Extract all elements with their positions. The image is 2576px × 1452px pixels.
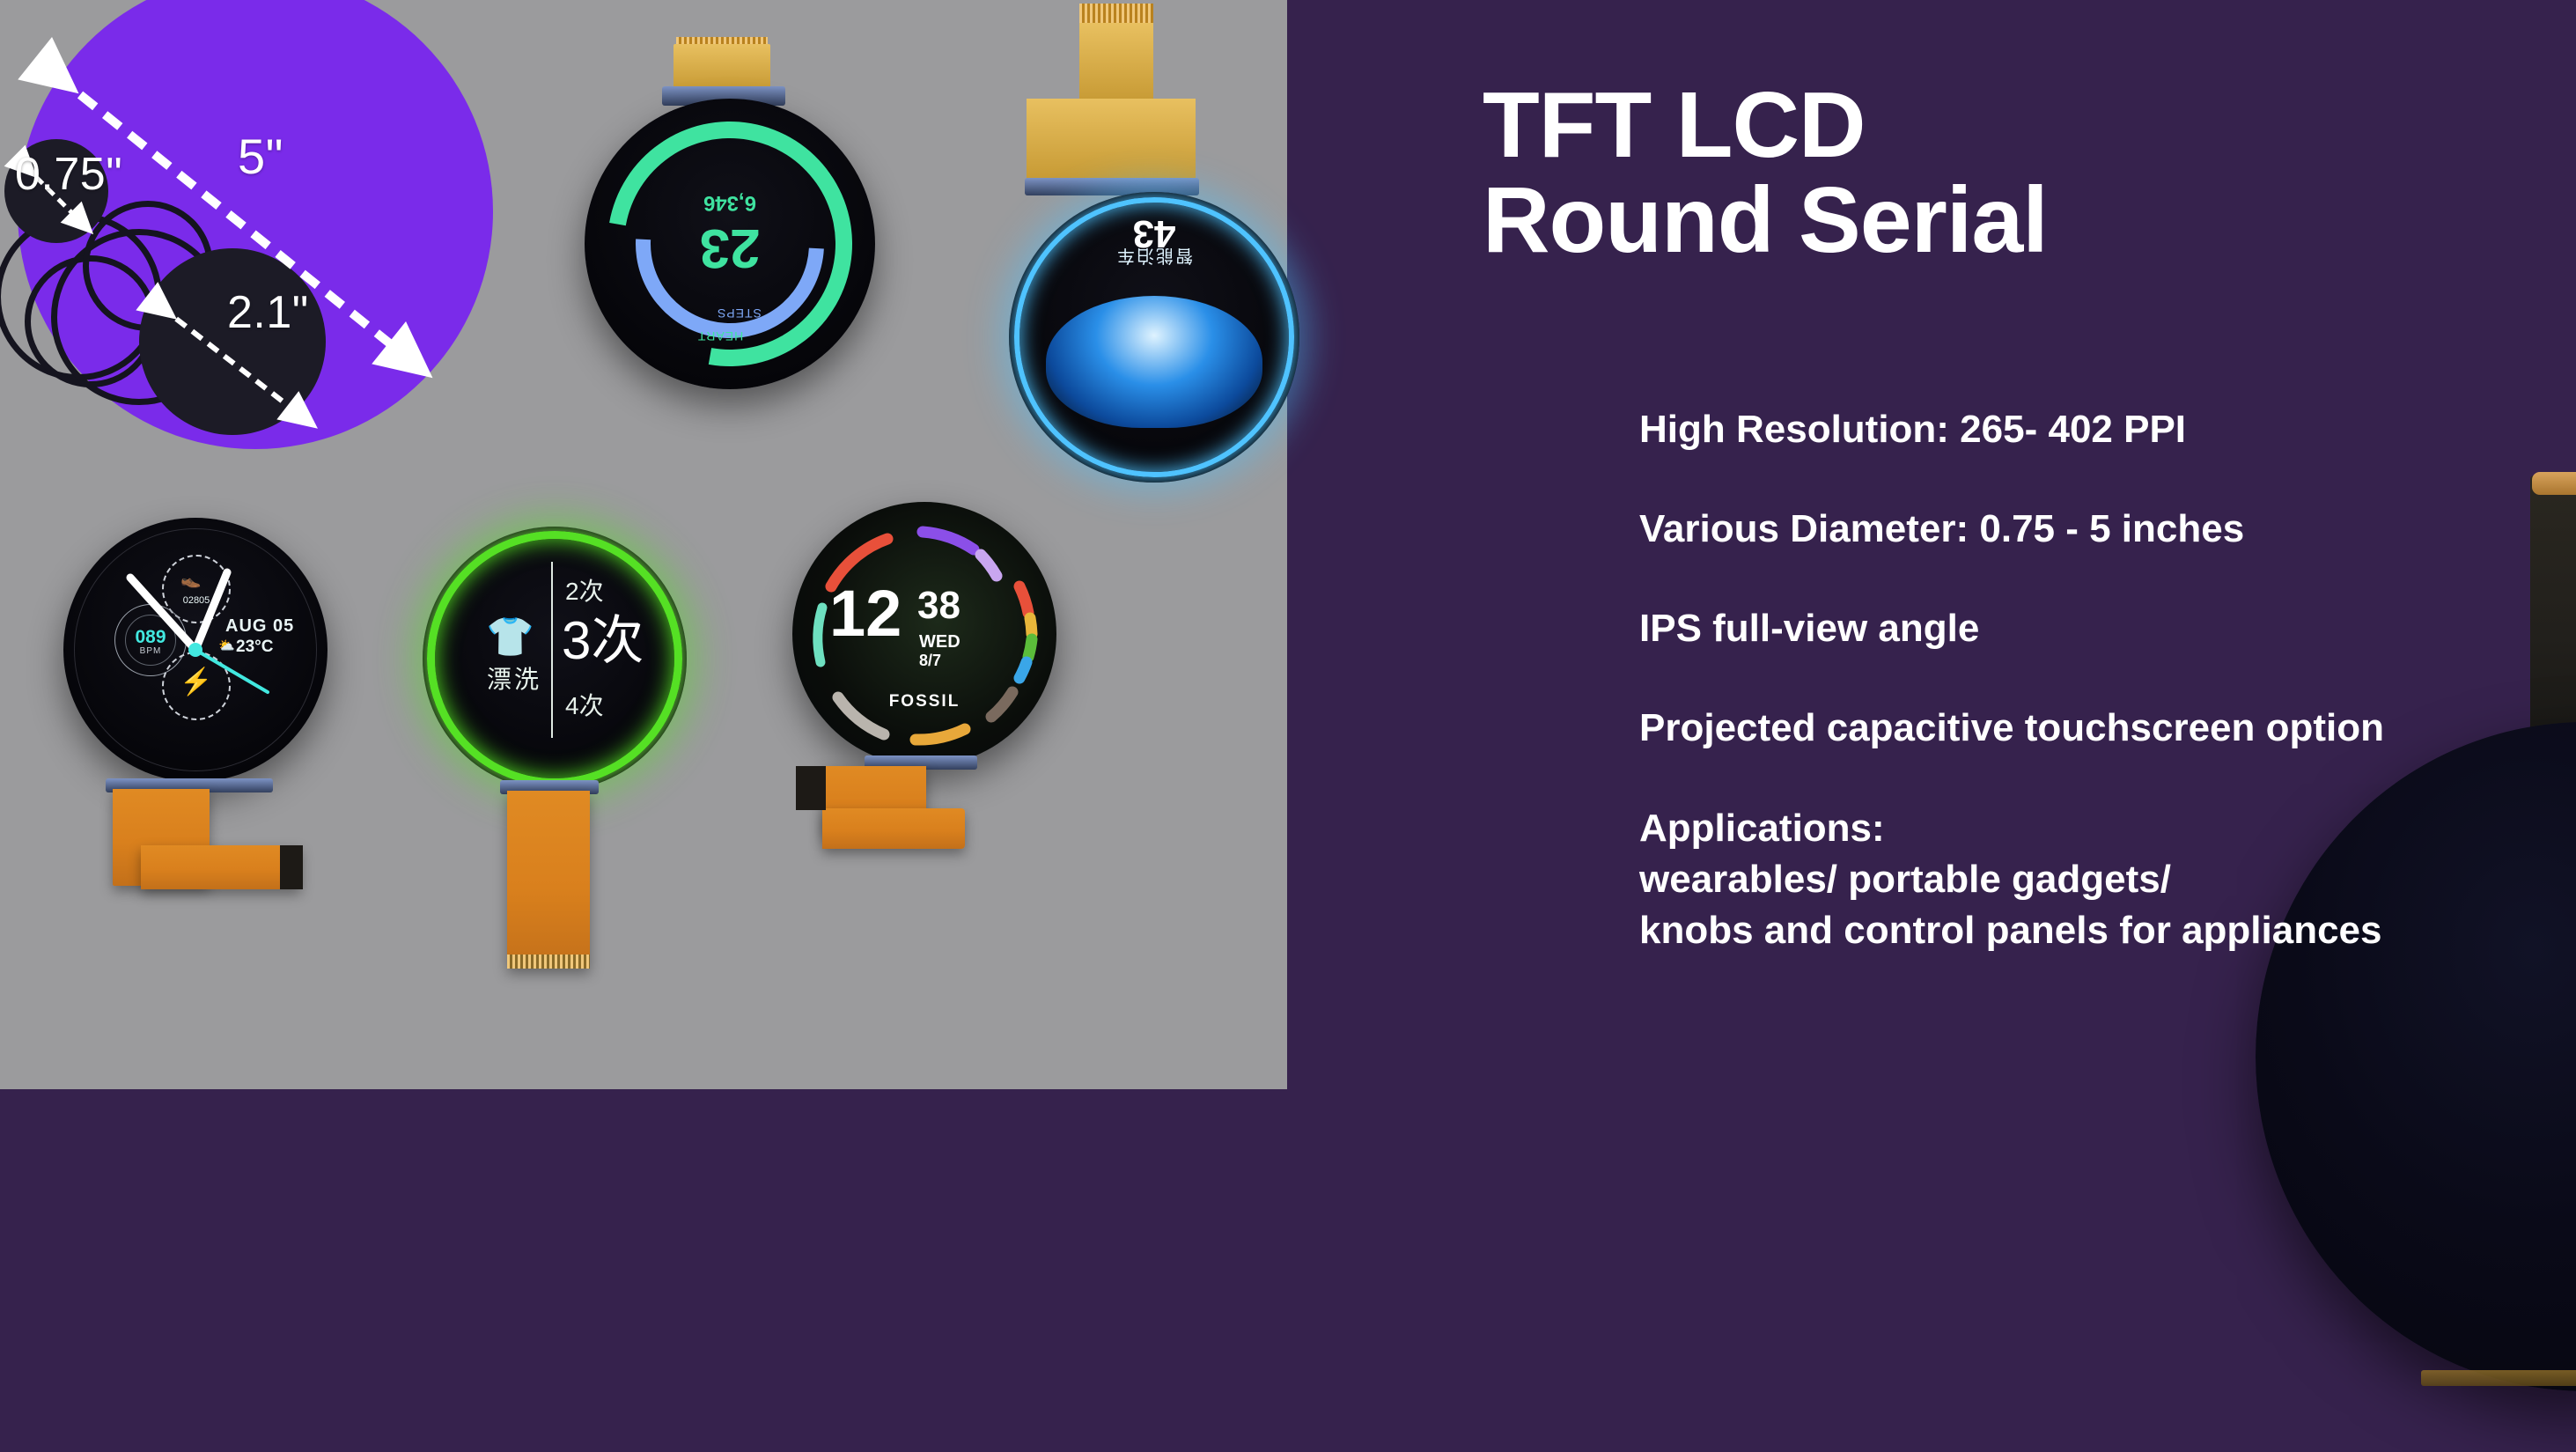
device-watch-analog: 👞 02805 089 BPM ⚡ AUG 05 23°C ⛅ bbox=[53, 518, 343, 940]
fossil-weekday: WED bbox=[919, 632, 960, 652]
heart-value: 23 bbox=[585, 220, 875, 275]
shirt-icon: 👕 bbox=[486, 618, 534, 657]
glow-ring bbox=[427, 531, 682, 786]
slide-root: 5" 0.75" 2.1" 6,346 23 STEPS HEART 智能泊车 bbox=[0, 0, 2576, 1452]
mode-label: 漂洗 bbox=[472, 660, 556, 696]
fossil-hour: 12 bbox=[829, 581, 902, 646]
steps-label: STEPS bbox=[717, 306, 762, 321]
device-car-display: 智能泊车 43 bbox=[924, 0, 1294, 493]
applications-block: Applications: wearables/ portable gadget… bbox=[1639, 803, 2555, 956]
device-watch-fossil: 12 38 WED 8/7 FOSSIL bbox=[784, 502, 1074, 898]
size-comparison-diagram: 5" 0.75" 2.1" bbox=[0, 0, 511, 493]
fpc-connector-end bbox=[280, 845, 303, 889]
applications-line-2: knobs and control panels for appliances bbox=[1639, 905, 2555, 956]
applications-heading: Applications: bbox=[1639, 803, 2555, 854]
option-below: 4次 bbox=[565, 687, 604, 722]
steps-value: 6,346 bbox=[585, 190, 875, 215]
title-line-2: Round Serial bbox=[1483, 173, 2048, 268]
feature-list: High Resolution: 265- 402 PPI Various Di… bbox=[1639, 405, 2555, 956]
fossil-date: 8/7 bbox=[919, 652, 941, 670]
car-graphic bbox=[1046, 296, 1262, 428]
fpc-cable-horizontal bbox=[141, 845, 301, 889]
option-above: 2次 bbox=[565, 572, 604, 608]
size-label-075in: 0.75" bbox=[15, 148, 122, 201]
divider-line bbox=[551, 562, 553, 738]
dimension-arrows bbox=[0, 0, 511, 493]
info-panel: TFT LCD Round Serial High Resolution: 26… bbox=[1287, 0, 2576, 1452]
size-label-5in: 5" bbox=[238, 128, 283, 185]
feature-item-diameter: Various Diameter: 0.75 - 5 inches bbox=[1639, 505, 2555, 553]
feature-item-ips: IPS full-view angle bbox=[1639, 604, 2555, 652]
fpc-cable-horizontal bbox=[822, 808, 965, 849]
fpc-gold-connector bbox=[673, 44, 770, 90]
option-selected: 3次 bbox=[562, 615, 644, 667]
fpc-contact-strip bbox=[1079, 4, 1153, 25]
panel-bottom-edge bbox=[2421, 1370, 2576, 1386]
feature-item-touchscreen: Projected capacitive touchscreen option bbox=[1639, 704, 2555, 752]
fpc-gold-tail bbox=[1079, 23, 1153, 102]
round-display-analog: 👞 02805 089 BPM ⚡ AUG 05 23°C ⛅ bbox=[63, 518, 328, 782]
device-watch-rings: 6,346 23 STEPS HEART bbox=[563, 26, 916, 440]
round-display-car: 智能泊车 43 bbox=[1009, 192, 1299, 483]
clock-hands bbox=[63, 518, 328, 782]
fpc-gold-body bbox=[1027, 99, 1196, 180]
page-title: TFT LCD Round Serial bbox=[1483, 77, 2048, 268]
heart-label: HEART bbox=[697, 329, 743, 343]
fossil-brand: FOSSIL bbox=[792, 692, 1056, 711]
title-line-1: TFT LCD bbox=[1483, 77, 2048, 173]
size-label-21in: 2.1" bbox=[227, 286, 309, 339]
applications-line-1: wearables/ portable gadgets/ bbox=[1639, 854, 2555, 905]
round-display-washer: 👕 漂洗 2次 3次 4次 bbox=[423, 527, 687, 791]
fossil-minute: 38 bbox=[917, 586, 960, 625]
round-display-a: 6,346 23 STEPS HEART bbox=[585, 99, 875, 389]
feature-item-resolution: High Resolution: 265- 402 PPI bbox=[1639, 405, 2555, 453]
fpc-cable-vertical bbox=[507, 791, 590, 969]
car-value: 43 bbox=[1009, 211, 1299, 255]
device-washer-knob: 👕 漂洗 2次 3次 4次 bbox=[414, 527, 704, 984]
round-display-fossil: 12 38 WED 8/7 FOSSIL bbox=[792, 502, 1056, 766]
fpc-contact-strip bbox=[507, 954, 590, 969]
fpc-connector-end bbox=[796, 766, 826, 810]
